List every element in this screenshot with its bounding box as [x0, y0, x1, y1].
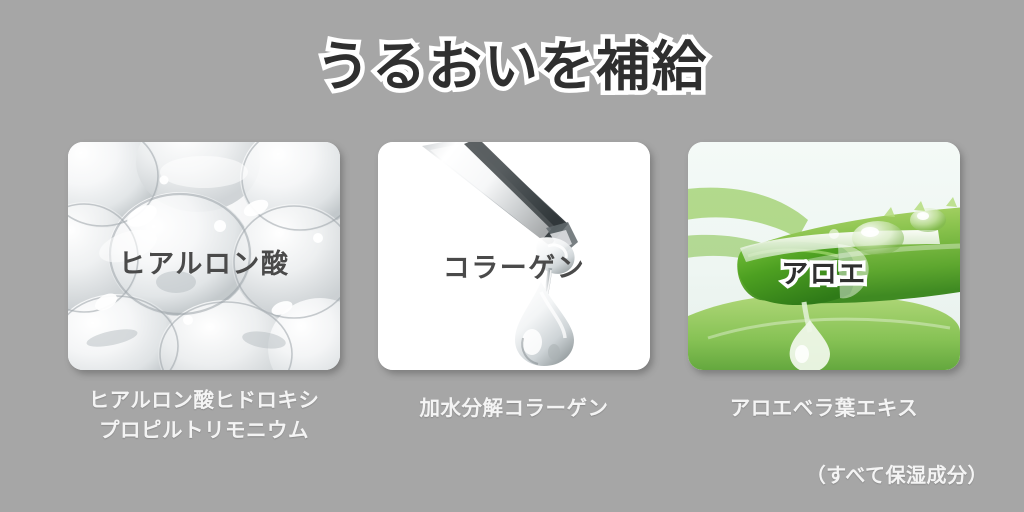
caption-aloe-line-1: アロエベラ葉エキス — [688, 394, 960, 424]
caption-row: ヒアルロン酸ヒドロキシ プロピルトリモニウム 加水分解コラーゲン アロエベラ葉エ… — [68, 386, 960, 456]
card-label-aloe: アロエ — [688, 252, 960, 291]
caption-hyaluronic-line-2: プロピルトリモニウム — [68, 416, 340, 446]
caption-hyaluronic-line-1: ヒアルロン酸ヒドロキシ — [68, 386, 340, 416]
ingredient-card-aloe[interactable]: アロエ — [688, 142, 960, 370]
page-title: うるおいを補給 — [0, 38, 1024, 97]
caption-hyaluronic: ヒアルロン酸ヒドロキシ プロピルトリモニウム — [68, 386, 340, 445]
ingredient-card-collagen[interactable]: コラーゲン — [378, 142, 650, 370]
ingredient-card-hyaluronic[interactable]: ヒアルロン酸 — [68, 142, 340, 370]
caption-aloe: アロエベラ葉エキス — [688, 394, 960, 424]
card-label-collagen: コラーゲン — [378, 246, 650, 285]
footnote-moisturizing-ingredients: （すべて保湿成分） — [806, 459, 988, 488]
ingredient-card-row: ヒアルロン酸 — [68, 142, 960, 370]
caption-collagen-line-1: 加水分解コラーゲン — [378, 394, 650, 424]
card-label-hyaluronic: ヒアルロン酸 — [68, 242, 340, 281]
slide-root: うるおいを補給 — [0, 0, 1024, 512]
caption-collagen: 加水分解コラーゲン — [378, 394, 650, 424]
